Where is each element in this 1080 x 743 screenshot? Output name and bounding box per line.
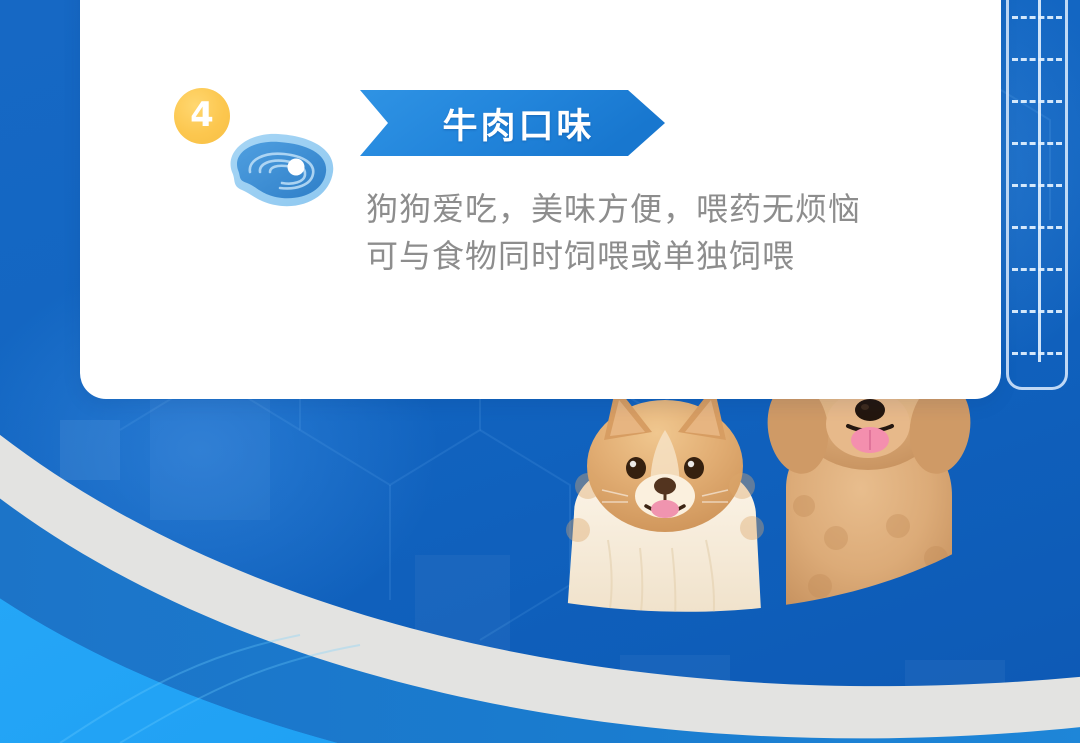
decoration-tick [1012, 226, 1062, 232]
promo-banner: 4 [0, 0, 1080, 743]
step-number-text: 4 [190, 98, 214, 132]
decoration-tick [1012, 58, 1062, 64]
description-line-2: 可与食物同时饲喂或单独饲喂 [366, 233, 966, 280]
decoration-tick [1012, 142, 1062, 148]
decoration-tick [1012, 100, 1062, 106]
decoration-vertical-line [1038, 0, 1041, 362]
description-line-1: 狗狗爱吃，美味方便，喂药无烦恼 [366, 186, 966, 233]
title-text: 牛肉口味 [360, 90, 665, 156]
decoration-tick [1012, 268, 1062, 274]
decoration-tick [1012, 16, 1062, 22]
title-ribbon: 牛肉口味 [360, 90, 665, 156]
decoration-tick [1012, 310, 1062, 316]
description-block: 狗狗爱吃，美味方便，喂药无烦恼 可与食物同时饲喂或单独饲喂 [366, 186, 966, 281]
pomeranian-dog [566, 386, 764, 630]
beef-steak-icon [216, 128, 342, 214]
decoration-tick [1012, 184, 1062, 190]
